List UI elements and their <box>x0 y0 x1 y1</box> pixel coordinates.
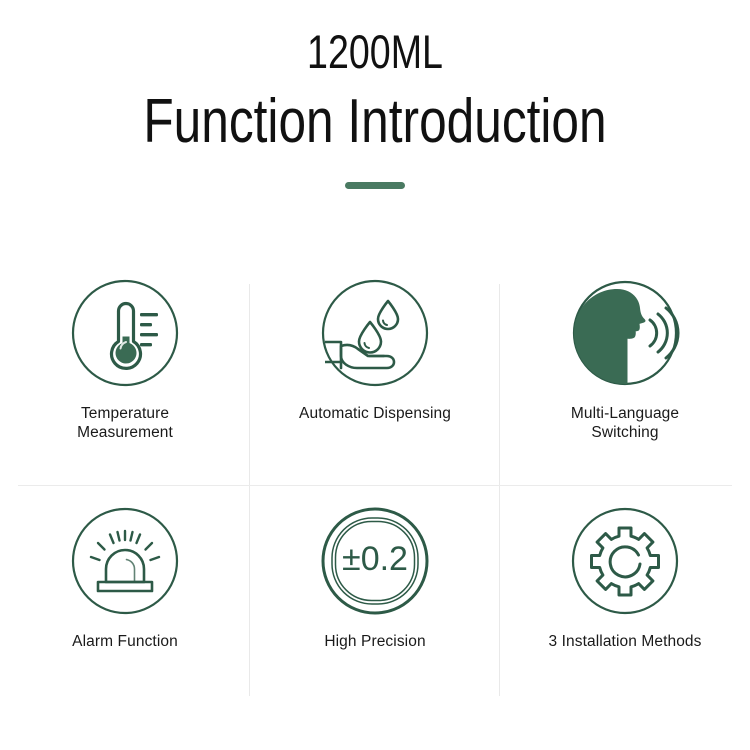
feature-label: High Precision <box>260 632 490 651</box>
function-introduction-page: 1200ML Function Introduction <box>0 0 750 750</box>
feature-grid: Temperature Measurement <box>0 268 750 708</box>
feature-cell-multi-language-switching[interactable]: Multi-Language Switching <box>500 268 750 483</box>
feature-label: Alarm Function <box>10 632 240 651</box>
hand-droplet-icon <box>320 278 430 388</box>
page-title: Function Introduction <box>75 75 675 153</box>
feature-label: Multi-Language Switching <box>510 404 740 442</box>
page-header: 1200ML Function Introduction <box>0 0 750 153</box>
thermometer-icon <box>70 278 180 388</box>
accent-divider-bar <box>345 182 405 189</box>
feature-cell-installation-methods[interactable]: 3 Installation Methods <box>500 496 750 711</box>
precision-tolerance-icon: ±0.2 <box>320 506 430 616</box>
gear-icon <box>570 506 680 616</box>
feature-label: 3 Installation Methods <box>510 632 740 651</box>
feature-cell-automatic-dispensing[interactable]: Automatic Dispensing <box>250 268 500 483</box>
product-capacity-subtitle: 1200ML <box>75 0 675 75</box>
feature-cell-temperature-measurement[interactable]: Temperature Measurement <box>0 268 250 483</box>
alarm-siren-icon <box>70 506 180 616</box>
feature-label: Temperature Measurement <box>10 404 240 442</box>
precision-value: ±0.2 <box>342 540 408 578</box>
feature-label: Automatic Dispensing <box>260 404 490 423</box>
speaking-head-icon <box>570 278 680 388</box>
feature-cell-alarm-function[interactable]: Alarm Function <box>0 496 250 711</box>
feature-cell-high-precision[interactable]: ±0.2 High Precision <box>250 496 500 711</box>
